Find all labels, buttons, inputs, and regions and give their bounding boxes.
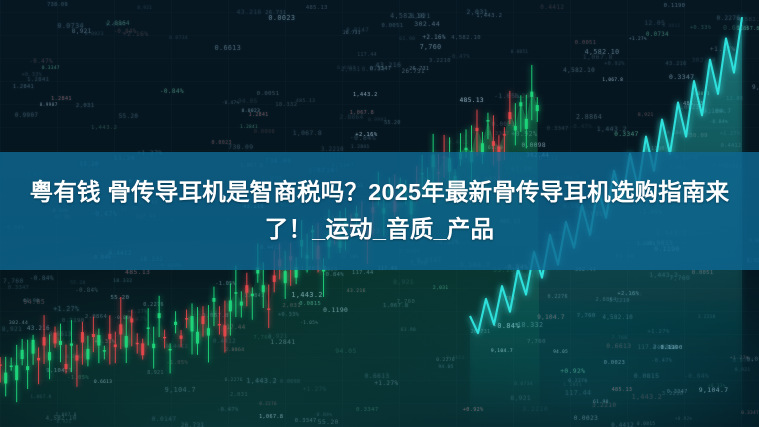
title-banner: 粤有钱 骨传导耳机是智商税吗？2025年最新骨传导耳机选购指南来了！_运动_音质… <box>0 152 759 270</box>
cover-image-canvas: 94.051,443.243.21643.2160.00983.22108,92… <box>0 0 759 427</box>
page-title: 粤有钱 骨传导耳机是智商税吗？2025年最新骨传导耳机选购指南来了！_运动_音质… <box>8 174 751 248</box>
